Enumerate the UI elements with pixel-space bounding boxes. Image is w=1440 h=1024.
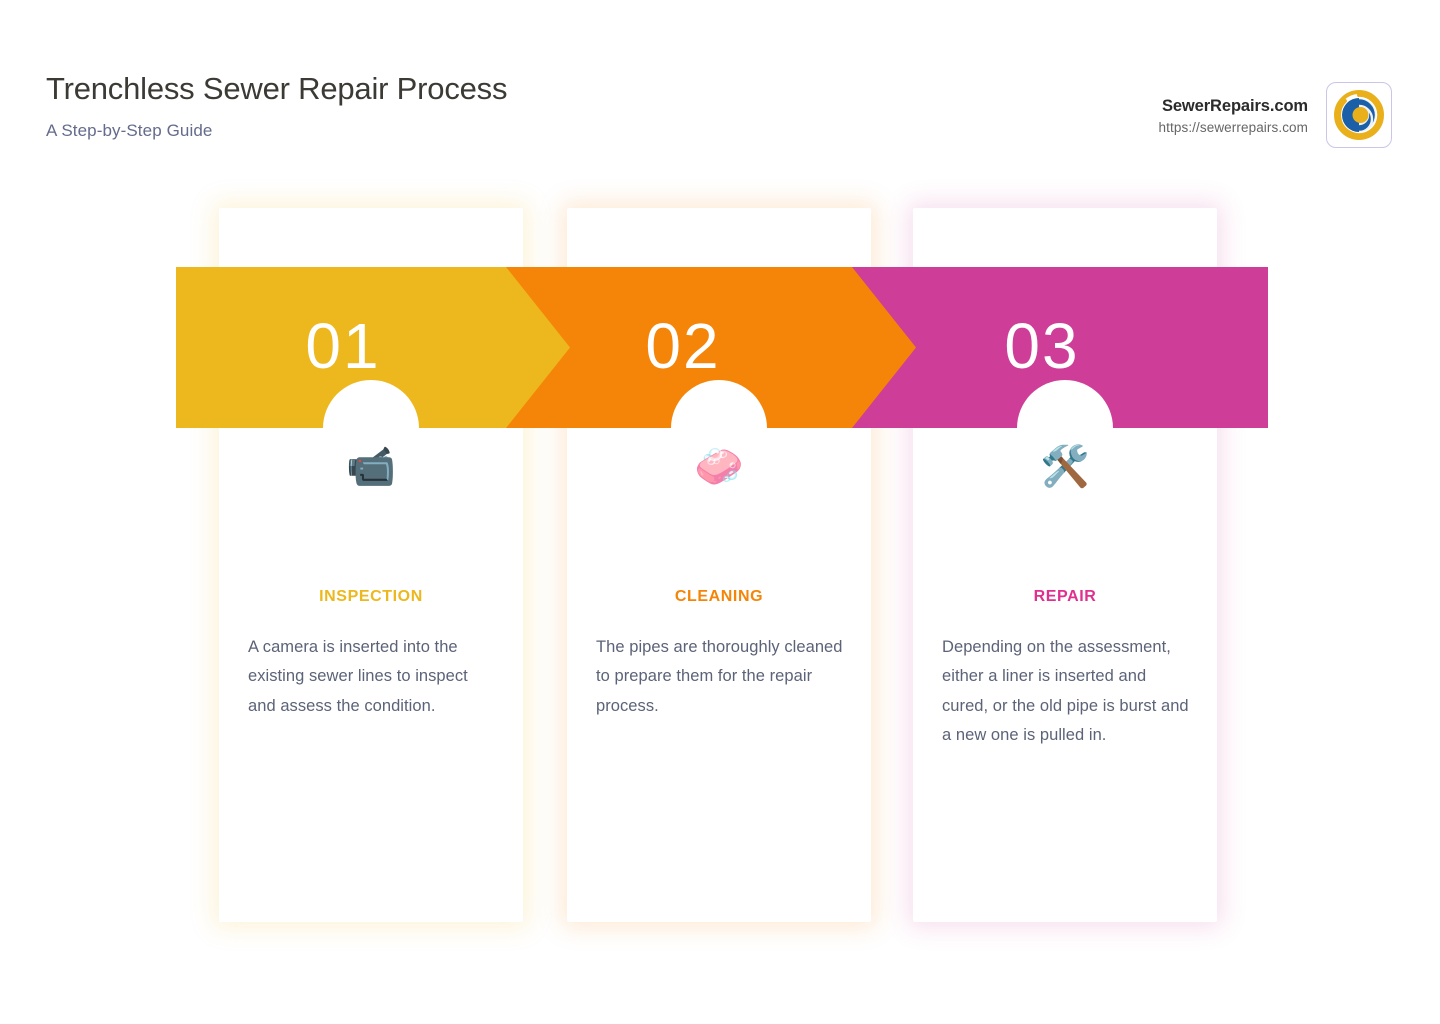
hammer-and-wrench-icon: 🛠️	[913, 447, 1217, 487]
step-cards	[0, 0, 1440, 1024]
step-title-3: REPAIR	[913, 588, 1217, 606]
step-title-2: CLEANING	[567, 588, 871, 606]
step-title-1: INSPECTION	[219, 588, 523, 606]
step-description-2: The pipes are thoroughly cleaned to prep…	[596, 633, 844, 721]
infographic-page: Trenchless Sewer Repair Process A Step-b…	[0, 0, 1440, 1024]
step-number-3: 03	[1004, 314, 1079, 378]
video-camera-icon: 📹	[219, 447, 523, 487]
soap-icon: 🧼	[567, 447, 871, 487]
step-description-1: A camera is inserted into the existing s…	[248, 633, 496, 721]
step-number-1: 01	[305, 314, 380, 378]
step-number-2: 02	[645, 314, 720, 378]
step-description-3: Depending on the assessment, either a li…	[942, 633, 1190, 750]
step-chevron-banner: 01 02 03	[176, 267, 1268, 428]
